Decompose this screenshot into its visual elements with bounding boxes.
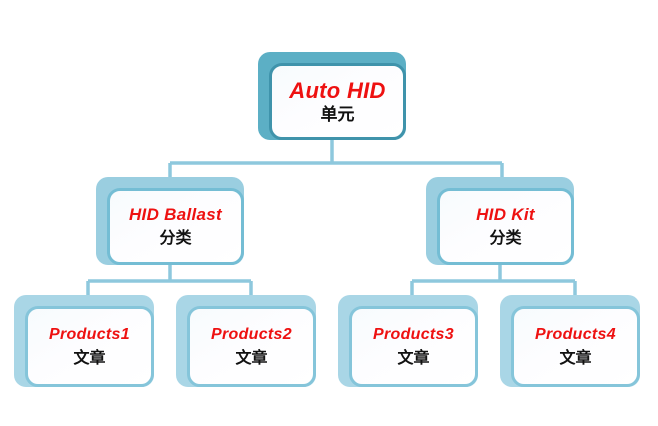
node-subtitle: 文章 [235, 349, 267, 367]
node-subtitle: 文章 [397, 349, 429, 367]
card-front: Auto HID 单元 [269, 63, 406, 140]
node-subtitle: 文章 [559, 349, 591, 367]
card-front: Products4 文章 [511, 306, 640, 387]
node-title: HID Ballast [129, 206, 222, 225]
node-title: Auto HID [289, 79, 386, 103]
node-products4[interactable]: Products4 文章 [500, 295, 640, 387]
card-front: HID Kit 分类 [437, 188, 574, 265]
card-front: Products1 文章 [25, 306, 154, 387]
diagram-canvas: Auto HID 单元 HID Ballast 分类 HID Kit 分类 Pr… [0, 0, 658, 426]
node-auto-hid[interactable]: Auto HID 单元 [258, 52, 406, 140]
node-hid-ballast[interactable]: HID Ballast 分类 [96, 177, 244, 265]
node-title: Products3 [373, 326, 454, 344]
node-subtitle: 分类 [489, 229, 521, 247]
node-products3[interactable]: Products3 文章 [338, 295, 478, 387]
node-title: Products2 [211, 326, 292, 344]
node-hid-kit[interactable]: HID Kit 分类 [426, 177, 574, 265]
node-title: Products1 [49, 326, 130, 344]
node-products2[interactable]: Products2 文章 [176, 295, 316, 387]
node-subtitle: 分类 [159, 229, 191, 247]
node-title: Products4 [535, 326, 616, 344]
card-front: Products2 文章 [187, 306, 316, 387]
node-products1[interactable]: Products1 文章 [14, 295, 154, 387]
node-title: HID Kit [476, 206, 535, 225]
node-subtitle: 文章 [73, 349, 105, 367]
card-front: Products3 文章 [349, 306, 478, 387]
node-subtitle: 单元 [321, 106, 355, 125]
card-front: HID Ballast 分类 [107, 188, 244, 265]
